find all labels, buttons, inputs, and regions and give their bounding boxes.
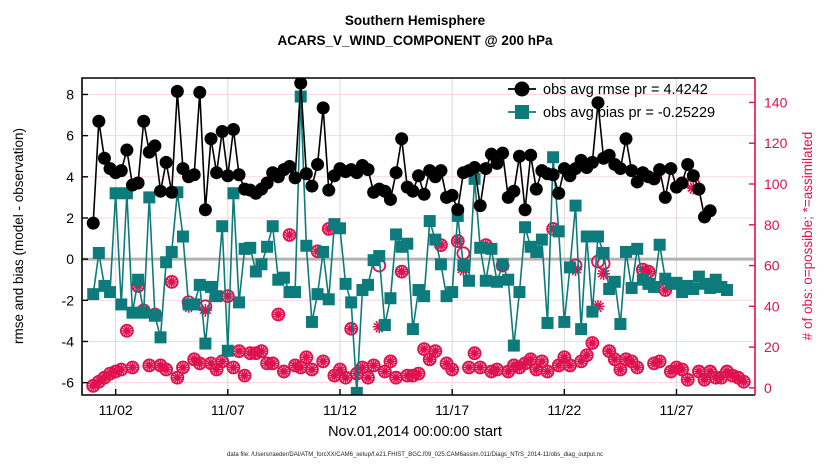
marker-bias: [575, 323, 587, 335]
marker-rmse: [395, 132, 408, 145]
right-axis-label: # of obs: o=possible; *=assimilated: [800, 132, 815, 341]
marker-rmse: [552, 187, 565, 200]
tick-label-left: 6: [66, 128, 74, 144]
tick-label-right: 100: [764, 176, 788, 192]
tick-label-right: 80: [764, 217, 780, 233]
marker-rmse: [614, 162, 627, 175]
left-axis-label: rmse and bias (model - observation): [11, 128, 26, 344]
marker-bias: [497, 258, 509, 270]
marker-bias: [222, 345, 234, 357]
marker-bias: [654, 239, 666, 251]
marker-bias: [687, 283, 699, 295]
marker-bias: [233, 296, 245, 308]
marker-rmse: [199, 203, 212, 216]
tick-label-bottom: 11/12: [323, 402, 357, 418]
tick-label-right: 20: [764, 339, 780, 355]
tick-label-left: 2: [66, 210, 74, 226]
marker-rmse: [625, 164, 638, 177]
marker-rmse: [479, 162, 492, 175]
marker-bias: [620, 246, 632, 258]
marker-bias: [211, 290, 223, 302]
marker-rmse: [384, 193, 397, 206]
marker-rmse: [311, 158, 324, 171]
marker-rmse: [154, 185, 167, 198]
marker-bias: [334, 222, 346, 234]
marker-bias: [177, 231, 189, 243]
marker-bias: [155, 331, 167, 343]
tick-label-right: 60: [764, 258, 780, 274]
marker-rmse: [530, 183, 543, 196]
tick-label-left: 0: [66, 251, 74, 267]
marker-bias: [143, 191, 155, 203]
marker-rmse: [524, 149, 537, 162]
marker-bias: [553, 225, 565, 237]
marker-rmse: [165, 186, 178, 199]
legend-rmse-label: obs avg rmse pr = 4.4242: [543, 82, 708, 98]
marker-bias: [463, 275, 475, 287]
marker-bias: [104, 286, 116, 298]
marker-bias: [160, 256, 172, 268]
marker-rmse: [317, 101, 330, 114]
marker-rmse: [704, 204, 717, 217]
marker-bias: [401, 238, 413, 250]
tick-label-left: 8: [66, 86, 74, 102]
marker-bias: [446, 286, 458, 298]
marker-rmse: [586, 156, 599, 169]
marker-bias: [474, 242, 486, 254]
tick-label-bottom: 11/22: [547, 402, 581, 418]
marker-rmse: [412, 169, 425, 182]
marker-bias: [598, 247, 610, 259]
marker-bias: [407, 323, 419, 335]
tick-label-left: -2: [62, 292, 75, 308]
marker-bias: [110, 187, 122, 199]
marker-bias: [149, 310, 161, 322]
marker-rmse: [148, 139, 161, 152]
marker-bias: [267, 220, 279, 232]
marker-bias: [340, 278, 352, 290]
chart-title-line1: Southern Hemisphere: [345, 13, 486, 28]
marker-rmse: [115, 164, 128, 177]
marker-rmse: [434, 164, 447, 177]
tick-label-right: 120: [764, 135, 788, 151]
marker-bias: [188, 298, 200, 310]
marker-bias: [278, 272, 290, 284]
marker-rmse: [221, 169, 234, 182]
marker-rmse: [519, 203, 532, 216]
marker-rmse: [362, 163, 375, 176]
marker-bias: [345, 296, 357, 308]
marker-bias: [312, 288, 324, 300]
marker-bias: [87, 288, 99, 300]
marker-bias: [379, 319, 391, 331]
marker-bias: [626, 282, 638, 294]
marker-rmse: [305, 180, 318, 193]
marker-rmse: [300, 167, 313, 180]
marker-rmse: [289, 171, 302, 184]
marker-rmse: [446, 189, 459, 202]
marker-bias: [631, 243, 643, 255]
tick-label-left: -4: [62, 333, 75, 349]
tick-label-bottom: 11/27: [659, 402, 693, 418]
marker-rmse: [171, 85, 184, 98]
marker-rmse: [160, 156, 173, 169]
marker-bias: [244, 242, 256, 254]
marker-bias: [227, 187, 239, 199]
marker-bias: [373, 250, 385, 262]
tick-label-right: 0: [764, 380, 772, 396]
tick-label-bottom: 11/17: [435, 402, 469, 418]
marker-rmse: [513, 150, 526, 163]
marker-bias: [502, 274, 514, 286]
marker-bias: [508, 340, 520, 352]
legend-rmse-marker: [515, 82, 530, 97]
datafile-footer: data file: /Users/raeder/DAI/ATM_forcXX/…: [227, 452, 603, 458]
marker-rmse: [451, 203, 464, 216]
marker-rmse: [233, 168, 246, 181]
marker-rmse: [204, 132, 217, 145]
marker-bias: [592, 231, 604, 243]
marker-bias: [93, 247, 105, 259]
marker-rmse: [120, 144, 133, 157]
marker-rmse: [496, 147, 509, 160]
marker-bias: [614, 318, 626, 330]
marker-bias: [306, 316, 318, 328]
marker-bias: [384, 292, 396, 304]
marker-rmse: [468, 161, 481, 174]
marker-bias: [429, 234, 441, 246]
marker-bias: [547, 151, 559, 163]
marker-rmse: [653, 163, 666, 176]
marker-bias: [255, 258, 267, 270]
marker-bias: [564, 261, 576, 273]
marker-rmse: [664, 162, 677, 175]
marker-rmse: [390, 166, 403, 179]
marker-rmse: [322, 184, 335, 197]
tick-label-bottom: 11/02: [99, 402, 133, 418]
marker-bias: [457, 259, 469, 271]
marker-bias: [721, 284, 733, 296]
marker-bias: [194, 279, 206, 291]
marker-rmse: [137, 115, 150, 128]
marker-bias: [558, 316, 570, 328]
marker-bias: [581, 231, 593, 243]
legend-bias-label: obs avg bias pr = -0.25229: [543, 105, 715, 121]
bottom-axis-label: Nov.01,2014 00:00:00 start: [328, 424, 502, 440]
marker-bias: [317, 246, 329, 258]
marker-rmse: [283, 160, 296, 173]
marker-rmse: [193, 86, 206, 99]
marker-rmse: [132, 176, 145, 189]
marker-bias: [300, 240, 312, 252]
marker-rmse: [227, 123, 240, 136]
marker-bias: [609, 276, 621, 288]
marker-bias: [138, 307, 150, 319]
marker-rmse: [210, 166, 223, 179]
marker-bias: [362, 279, 374, 291]
marker-bias: [435, 258, 447, 270]
marker-bias: [261, 241, 273, 253]
marker-bias: [115, 298, 127, 310]
marker-bias: [199, 338, 211, 350]
marker-rmse: [474, 199, 487, 212]
marker-rmse: [507, 185, 520, 198]
marker-bias: [289, 286, 301, 298]
tick-label-right: 40: [764, 298, 780, 314]
chart-title-line2: ACARS_V_WIND_COMPONENT @ 200 hPa: [278, 33, 553, 48]
tick-label-right: 140: [764, 94, 788, 110]
diagnostics-chart: Southern Hemisphere ACARS_V_WIND_COMPONE…: [0, 0, 830, 470]
marker-bias: [166, 246, 178, 258]
marker-bias: [216, 220, 228, 232]
tick-label-left: -6: [62, 375, 75, 391]
marker-bias: [541, 317, 553, 329]
marker-rmse: [216, 125, 229, 138]
marker-bias: [536, 234, 548, 246]
marker-bias: [648, 281, 660, 293]
marker-bias: [126, 307, 138, 319]
marker-rmse: [659, 191, 672, 204]
marker-rmse: [687, 169, 700, 182]
marker-rmse: [681, 158, 694, 171]
marker-rmse: [692, 183, 705, 196]
marker-bias: [530, 246, 542, 258]
marker-rmse: [87, 217, 100, 230]
marker-bias: [519, 221, 531, 233]
marker-rmse: [418, 188, 431, 201]
marker-bias: [418, 290, 430, 302]
marker-bias: [586, 306, 598, 318]
marker-bias: [570, 200, 582, 212]
marker-bias: [424, 215, 436, 227]
marker-bias: [132, 274, 144, 286]
marker-bias: [485, 243, 497, 255]
legend-bias-marker: [515, 105, 529, 119]
marker-rmse: [188, 168, 201, 181]
marker-rmse: [547, 168, 560, 181]
marker-rmse: [92, 115, 105, 128]
marker-rmse: [676, 176, 689, 189]
tick-label-bottom: 11/07: [211, 402, 245, 418]
marker-bias: [323, 293, 335, 305]
marker-bias: [390, 228, 402, 240]
marker-rmse: [620, 132, 633, 145]
marker-bias: [491, 276, 503, 288]
marker-bias: [480, 275, 492, 287]
marker-rmse: [406, 185, 419, 198]
marker-bias: [513, 286, 525, 298]
tick-label-left: 4: [66, 169, 74, 185]
